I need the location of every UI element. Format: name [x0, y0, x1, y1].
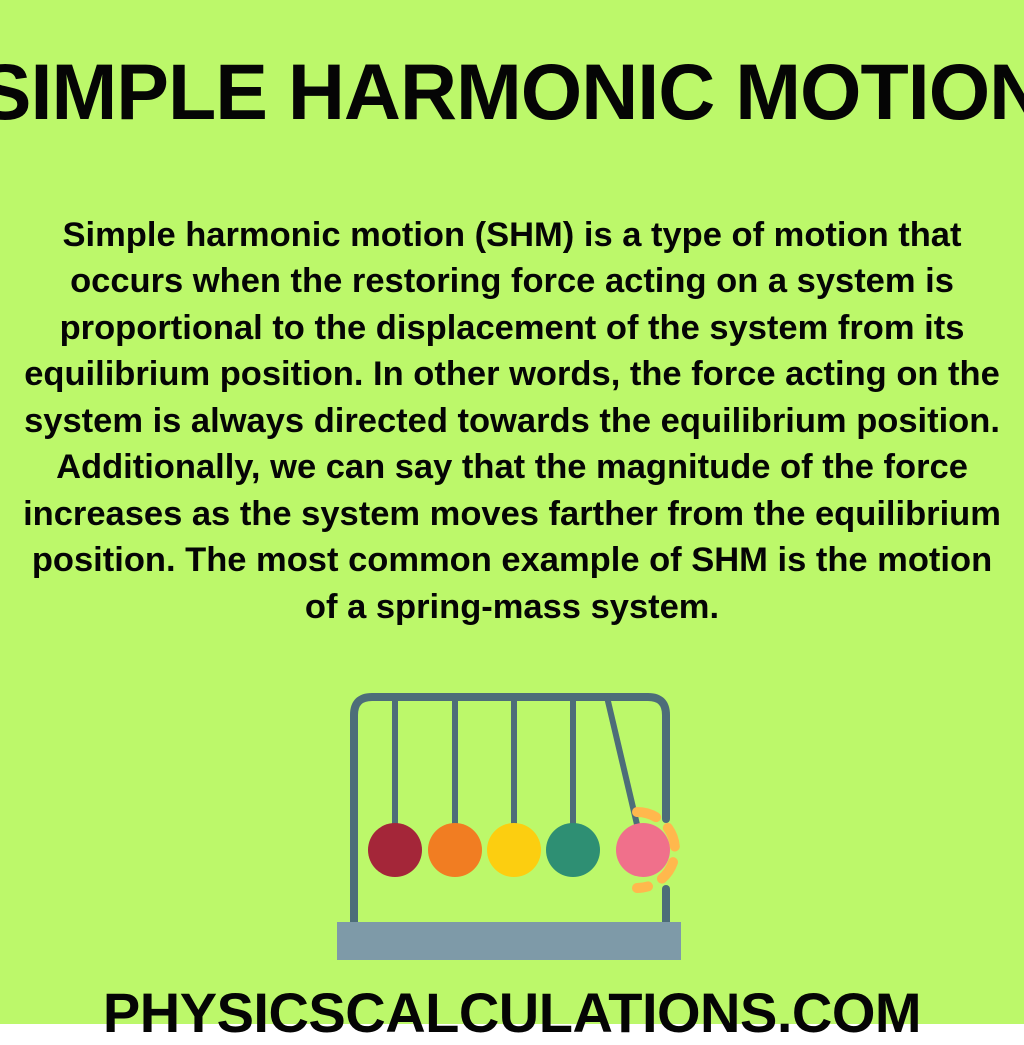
cradle-ball-4 [546, 823, 600, 877]
cradle-ball-3 [487, 823, 541, 877]
cradle-frame-left-and-top [354, 697, 666, 927]
newtons-cradle-illustration [332, 679, 692, 964]
newtons-cradle-svg [332, 679, 692, 964]
cradle-ball-2 [428, 823, 482, 877]
cradle-base [337, 922, 681, 960]
cradle-ball-1 [368, 823, 422, 877]
cradle-ball-5 [616, 823, 670, 877]
site-footer-url: PHYSICSCALCULATIONS.COM [103, 980, 921, 1045]
poster-canvas: SIMPLE HARMONIC MOTION Simple harmonic m… [0, 0, 1024, 1024]
page-title: SIMPLE HARMONIC MOTION [0, 52, 1024, 131]
description-paragraph: Simple harmonic motion (SHM) is a type o… [7, 212, 1017, 631]
